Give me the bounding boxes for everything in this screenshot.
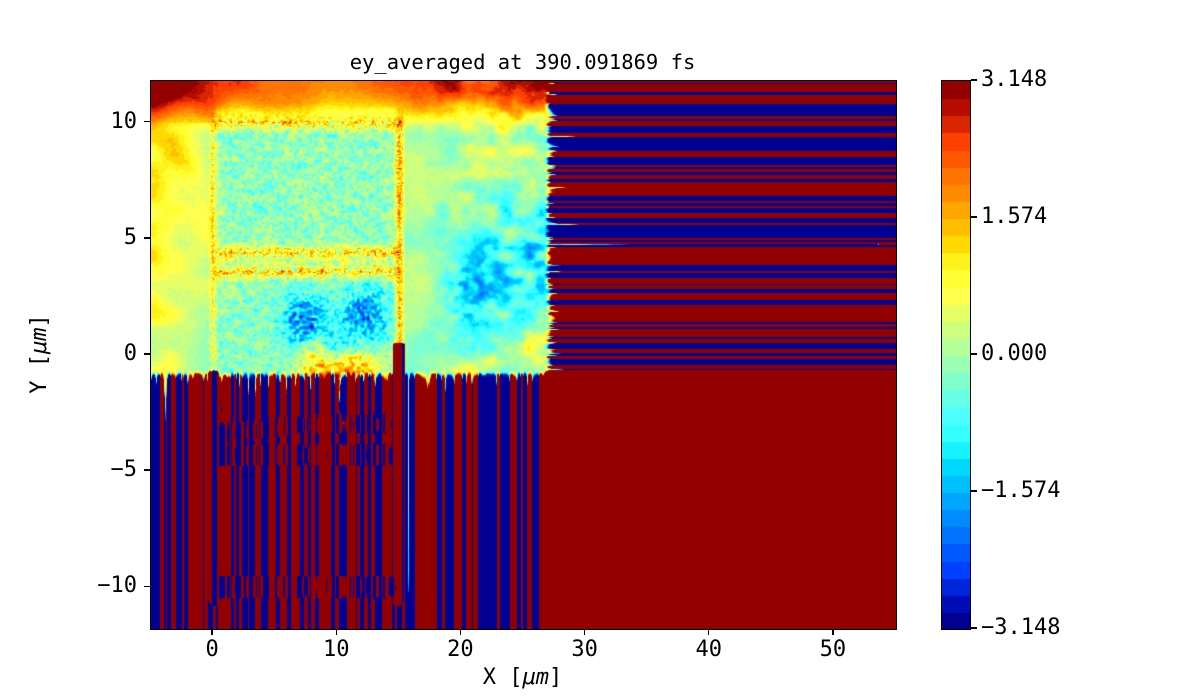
colorbar-tick-label: −1.574 [981,480,1060,502]
x-tick-label: 10 [296,637,376,662]
colorbar-tick-label: 0.000 [981,343,1047,365]
y-unit: μm [27,328,52,355]
colorbar-tick-mark [971,216,977,217]
plot-title: ey_averaged at 390.091869 fs [150,50,895,74]
y-tick-label: 10 [111,111,138,133]
y-tick-label: 0 [124,343,137,365]
y-tick-label: −5 [111,459,138,481]
x-tick-label: 40 [669,637,749,662]
colorbar[interactable] [941,80,971,630]
y-axis-label: Y [μm] [20,80,60,628]
x-tick-mark [460,629,461,635]
y-tick-mark [144,121,150,122]
colorbar-tick-mark [971,490,977,491]
x-tick-label: 20 [420,637,500,662]
y-tick-mark [144,237,150,238]
x-tick-label: 0 [172,637,252,662]
x-tick-mark [211,629,212,635]
x-tick-label: 30 [545,637,625,662]
figure-canvas: ey_averaged at 390.091869 fs 01020304050… [0,0,1200,700]
y-tick-mark [144,353,150,354]
colorbar-tick-label: −3.148 [981,617,1060,639]
colorbar-gradient [942,81,970,629]
field-heatmap [151,81,896,629]
y-tick-mark [144,469,150,470]
y-tick-mark [144,586,150,587]
colorbar-tick-mark [971,353,977,354]
x-tick-label: 50 [793,637,873,662]
y-tick-label: −10 [97,575,137,597]
x-tick-mark [832,629,833,635]
y-tick-label: 5 [124,227,137,249]
heatmap-axes[interactable] [150,80,897,630]
x-tick-mark [708,629,709,635]
x-tick-mark [584,629,585,635]
x-axis-label: X [μm] [150,665,895,690]
x-unit: μm [523,665,550,690]
colorbar-tick-label: 1.574 [981,206,1047,228]
colorbar-tick-mark [971,627,977,628]
colorbar-tick-label: 3.148 [981,69,1047,91]
x-tick-mark [336,629,337,635]
colorbar-tick-mark [971,79,977,80]
